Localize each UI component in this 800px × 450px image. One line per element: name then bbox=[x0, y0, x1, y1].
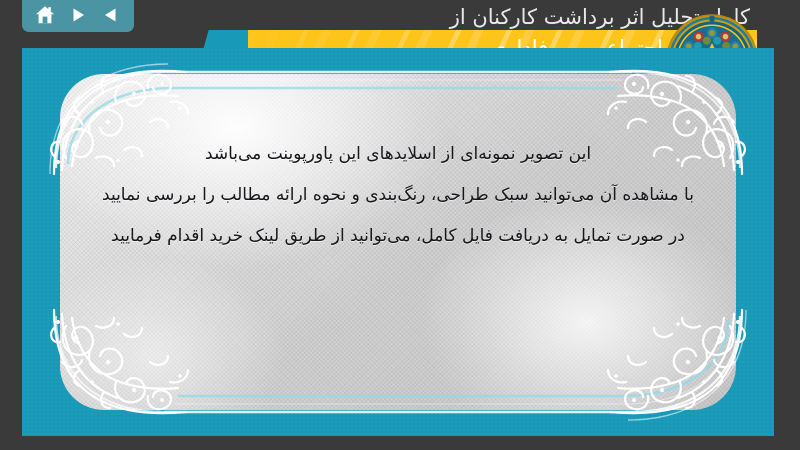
slide-body-text: این تصویر نمونه‌ای از اسلایدهای این پاور… bbox=[22, 134, 774, 257]
body-line-1: این تصویر نمونه‌ای از اسلایدهای این پاور… bbox=[62, 134, 734, 175]
content-frame: این تصویر نمونه‌ای از اسلایدهای این پاور… bbox=[22, 48, 774, 436]
triangle-left-icon bbox=[101, 5, 121, 25]
navigation-bar bbox=[22, 0, 134, 32]
home-button[interactable] bbox=[33, 3, 57, 27]
body-line-3: در صورت تمایل به دریافت فایل کامل، می‌تو… bbox=[62, 216, 734, 257]
home-icon bbox=[34, 4, 56, 26]
slide-stage: کامل تحلیل اثر برداشت کارکنان از مسئولیت… bbox=[0, 0, 800, 450]
body-line-2: با مشاهده آن می‌توانید سبک طراحی، رنگ‌بن… bbox=[62, 175, 734, 216]
title-line-1: کامل تحلیل اثر برداشت کارکنان از bbox=[150, 2, 750, 33]
triangle-right-icon bbox=[68, 5, 88, 25]
next-button[interactable] bbox=[66, 3, 90, 27]
prev-button[interactable] bbox=[99, 3, 123, 27]
